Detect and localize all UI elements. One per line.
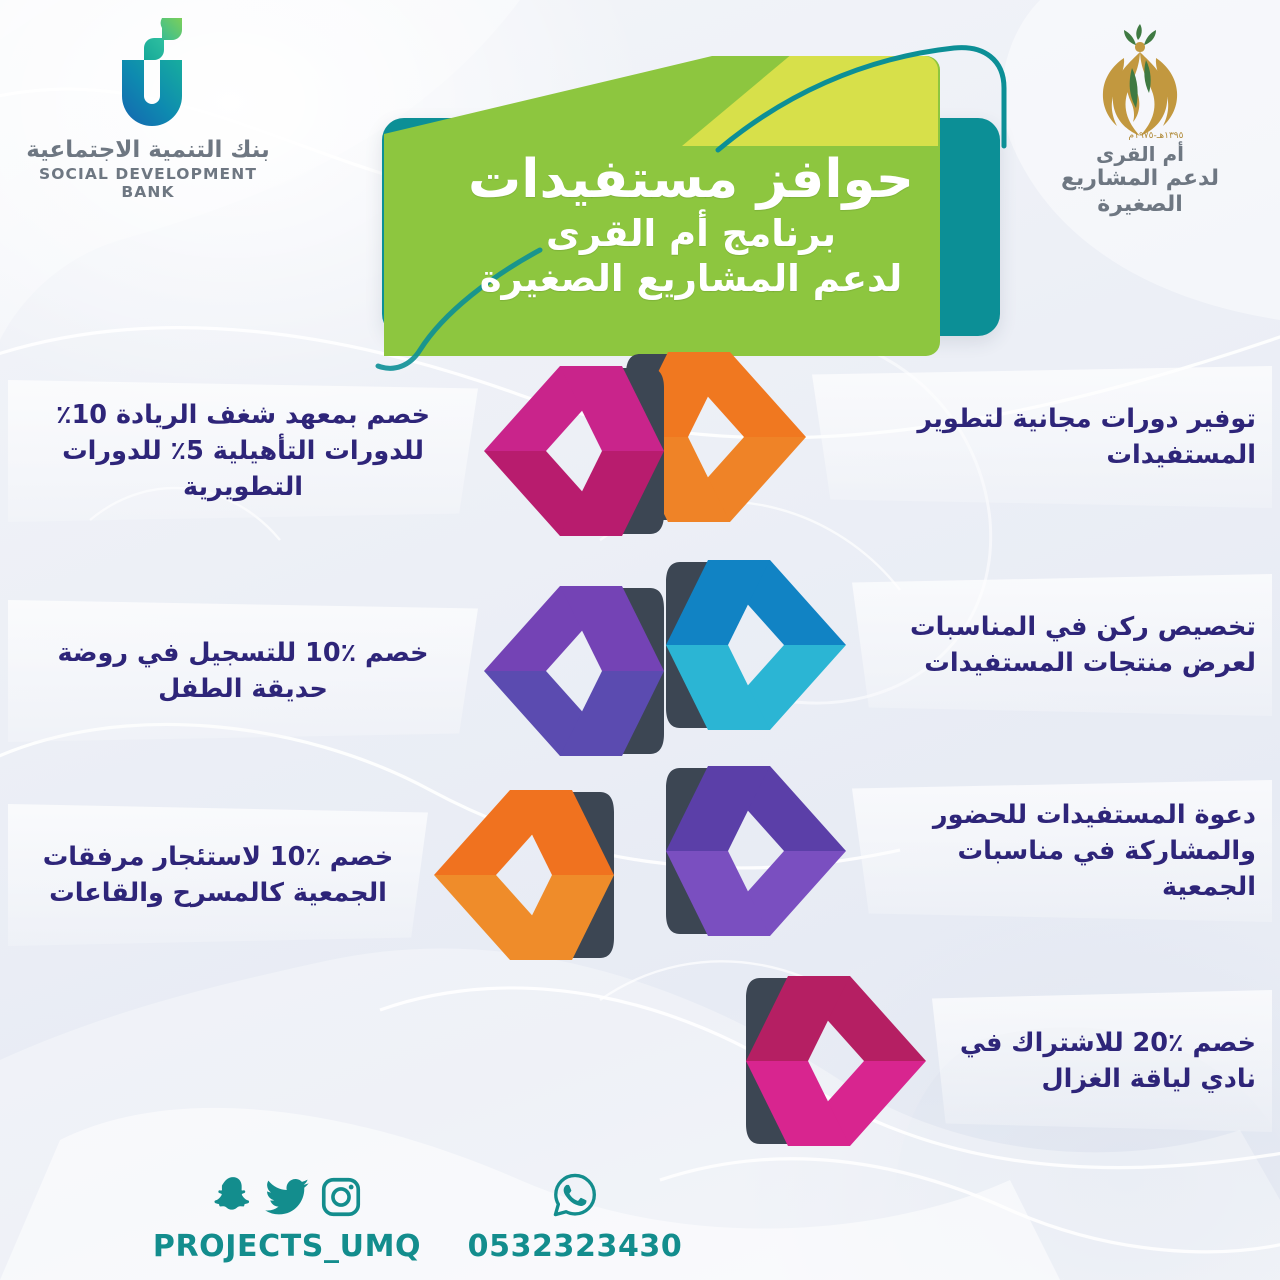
benefit-item-events-corner: تخصيص ركن في المناسباتلعرض منتجات المستف… — [666, 552, 1272, 738]
benefit-arrow-invitation-to-events — [666, 758, 852, 944]
title-banner: حوافز مستفيدات برنامج أم القرى لدعم المش… — [382, 118, 1000, 336]
benefit-text-facilities-rent-discount: خصم ٪10 لاستئجار مرفقاتالجمعية كالمسرح و… — [8, 839, 428, 911]
benefit-text-free-courses: توفير دورات مجانية لتطوير المستفيدات — [812, 401, 1272, 473]
benefit-line: خصم ٪10 للتسجيل في روضة حديقة الطفل — [24, 635, 462, 707]
social-development-bank-logo: بنك التنمية الاجتماعية SOCIAL DEVELOPMEN… — [18, 8, 278, 201]
whatsapp-icon[interactable] — [550, 1170, 600, 1220]
whatsapp-number: 0532323430 — [340, 1229, 810, 1264]
benefit-line: توفير دورات مجانية لتطوير المستفيدات — [828, 401, 1256, 473]
footer-whatsapp-group: 0532323430 — [340, 1164, 810, 1264]
benefit-arrow-events-corner — [666, 552, 852, 738]
sdb-arabic-name: بنك التنمية الاجتماعية — [18, 138, 278, 163]
footer-whatsapp-icons — [340, 1164, 810, 1220]
benefit-text-wrap-institute-discount: خصم بمعهد شغف الريادة 10٪للدورات التأهيل… — [8, 358, 478, 544]
benefit-line: الجمعية كالمسرح والقاعات — [24, 875, 412, 911]
benefit-text-wrap-free-courses: توفير دورات مجانية لتطوير المستفيدات — [812, 344, 1272, 530]
chevron-arrow-icon — [666, 758, 852, 944]
banner-title: حوافز مستفيدات — [468, 153, 914, 207]
benefit-arrow-institute-discount — [478, 358, 664, 544]
benefit-text-events-corner: تخصيص ركن في المناسباتلعرض منتجات المستف… — [852, 609, 1272, 681]
benefit-item-free-courses: توفير دورات مجانية لتطوير المستفيدات — [626, 344, 1272, 530]
benefit-item-facilities-rent-discount: خصم ٪10 لاستئجار مرفقاتالجمعية كالمسرح و… — [8, 782, 614, 968]
chevron-arrow-icon — [428, 782, 614, 968]
umq-mark-icon: ١٣٩٥هـ-١٩٧٥م — [1082, 6, 1198, 146]
infographic-poster: بنك التنمية الاجتماعية SOCIAL DEVELOPMEN… — [0, 0, 1280, 1280]
umq-name-line1: أم القرى — [1020, 142, 1260, 166]
umq-name-line2: لدعم المشاريع الصغيرة — [1020, 166, 1260, 219]
benefit-text-kindergarten-discount: خصم ٪10 للتسجيل في روضة حديقة الطفل — [8, 635, 478, 707]
chevron-arrow-icon — [478, 578, 664, 764]
benefit-item-institute-discount: خصم بمعهد شغف الريادة 10٪للدورات التأهيل… — [8, 358, 664, 544]
chevron-arrow-icon — [478, 358, 664, 544]
umq-year-mark: ١٣٩٥هـ-١٩٧٥م — [1129, 131, 1184, 141]
benefit-line: لعرض منتجات المستفيدات — [868, 645, 1256, 681]
benefit-text-wrap-kindergarten-discount: خصم ٪10 للتسجيل في روضة حديقة الطفل — [8, 578, 478, 764]
snapchat-icon[interactable] — [210, 1174, 256, 1220]
banner-subtitle-2: لدعم المشاريع الصغيرة — [480, 257, 903, 301]
benefit-line: دعوة المستفيدات للحضور — [868, 797, 1256, 833]
sdb-mark-icon — [96, 8, 200, 132]
benefit-text-gym-subscription-discount: خصم ٪20 للاشتراك فينادي لياقة الغزال — [932, 1025, 1272, 1097]
banner-text-block: حوافز مستفيدات برنامج أم القرى لدعم المش… — [382, 118, 1000, 336]
twitter-icon[interactable] — [263, 1172, 311, 1220]
benefit-arrow-facilities-rent-discount — [428, 782, 614, 968]
benefit-line: نادي لياقة الغزال — [948, 1061, 1256, 1097]
benefit-text-wrap-facilities-rent-discount: خصم ٪10 لاستئجار مرفقاتالجمعية كالمسرح و… — [8, 782, 428, 968]
banner-subtitle: برنامج أم القرى — [546, 211, 836, 257]
benefit-item-kindergarten-discount: خصم ٪10 للتسجيل في روضة حديقة الطفل — [8, 578, 664, 764]
benefit-text-invitation-to-events: دعوة المستفيدات للحضوروالمشاركة في مناسب… — [852, 797, 1272, 906]
benefit-line: والمشاركة في مناسبات الجمعية — [868, 833, 1256, 905]
sdb-english-name: SOCIAL DEVELOPMENT BANK — [18, 165, 278, 201]
benefit-text-wrap-invitation-to-events: دعوة المستفيدات للحضوروالمشاركة في مناسب… — [852, 758, 1272, 944]
umm-al-qura-logo: ١٣٩٥هـ-١٩٧٥م أم القرى لدعم المشاريع الصغ… — [1020, 6, 1260, 219]
benefit-line: تخصيص ركن في المناسبات — [868, 609, 1256, 645]
benefit-line: خصم ٪20 للاشتراك في — [948, 1025, 1256, 1061]
benefit-line: خصم ٪10 لاستئجار مرفقات — [24, 839, 412, 875]
benefit-line: للدورات التأهيلية 5٪ للدورات التطويرية — [24, 433, 462, 505]
benefit-arrow-kindergarten-discount — [478, 578, 664, 764]
chevron-arrow-icon — [666, 552, 852, 738]
benefit-line: خصم بمعهد شغف الريادة 10٪ — [24, 397, 462, 433]
benefit-text-institute-discount: خصم بمعهد شغف الريادة 10٪للدورات التأهيل… — [8, 397, 478, 506]
benefit-text-wrap-events-corner: تخصيص ركن في المناسباتلعرض منتجات المستف… — [852, 552, 1272, 738]
footer: PROJECTS_UMQ 0532323430 — [0, 1124, 1280, 1264]
benefit-item-invitation-to-events: دعوة المستفيدات للحضوروالمشاركة في مناسب… — [666, 758, 1272, 944]
